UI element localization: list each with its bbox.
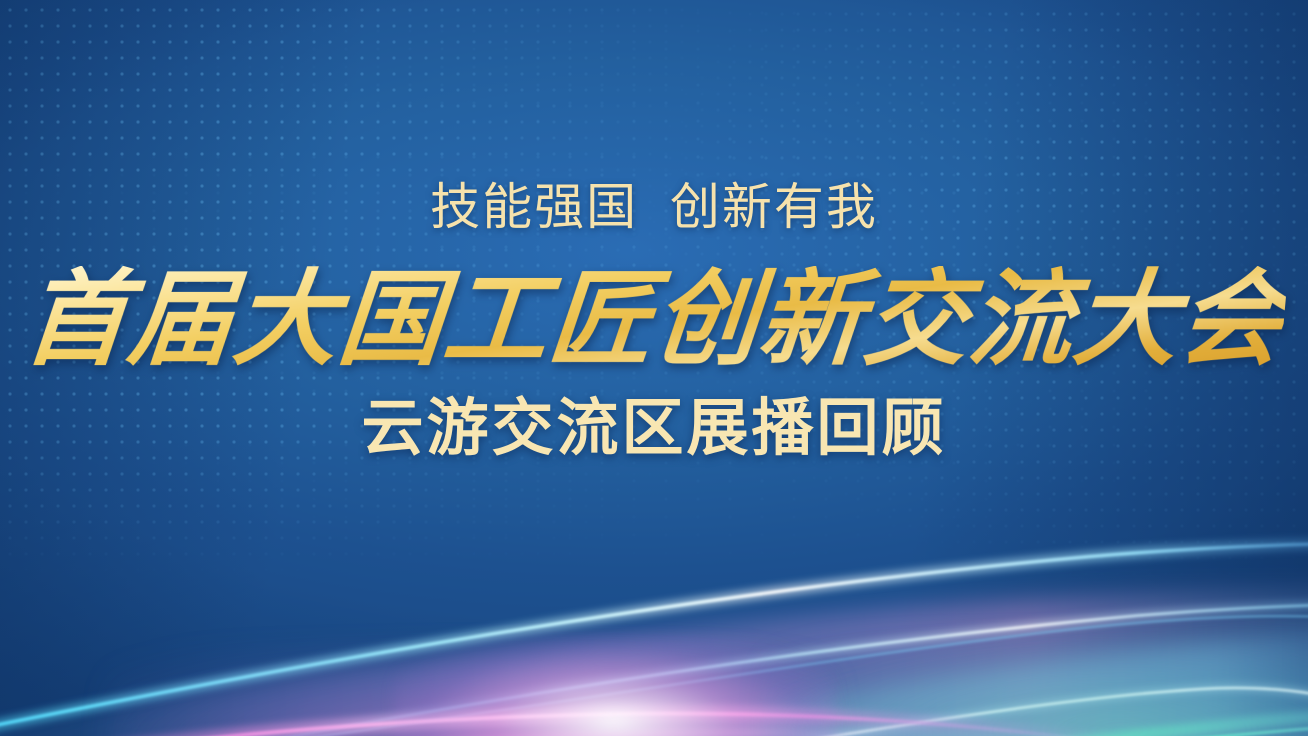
- event-poster: 技能强国 创新有我 首届大国工匠创新交流大会 云游交流区展播回顾: [0, 0, 1308, 736]
- poster-text-stack: 技能强国 创新有我 首届大国工匠创新交流大会 云游交流区展播回顾: [0, 0, 1308, 736]
- poster-sub-title: 云游交流区展播回顾: [361, 398, 946, 460]
- poster-main-title: 首届大国工匠创新交流大会: [19, 266, 1288, 372]
- poster-tagline: 技能强国 创新有我: [430, 182, 878, 232]
